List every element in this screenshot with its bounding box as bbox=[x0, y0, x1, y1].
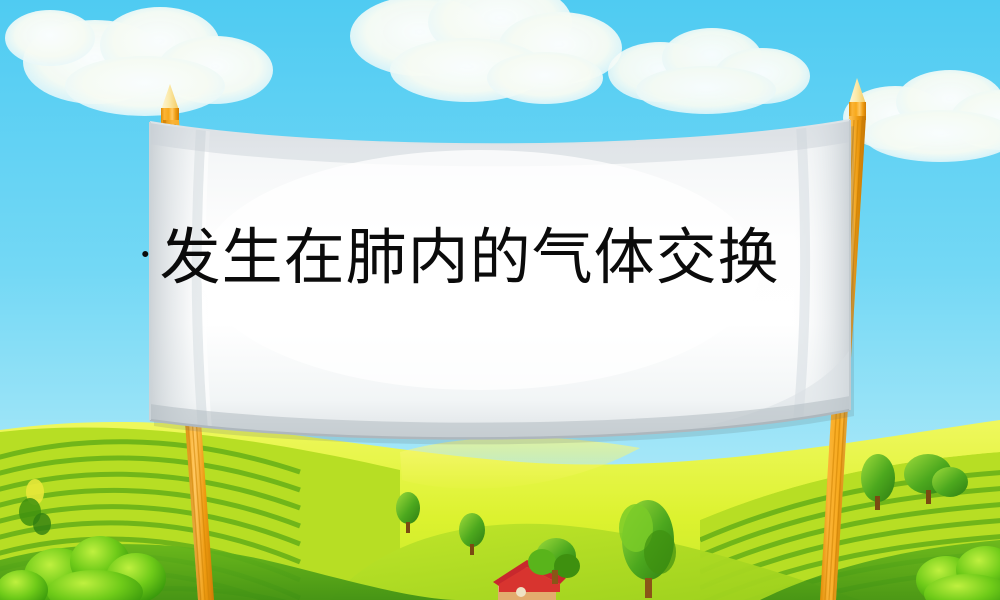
presentation-slide: ·发生在肺内的气体交换 bbox=[0, 0, 1000, 600]
white-cloth-banner bbox=[150, 110, 856, 460]
slide-background-scene bbox=[0, 0, 1000, 600]
